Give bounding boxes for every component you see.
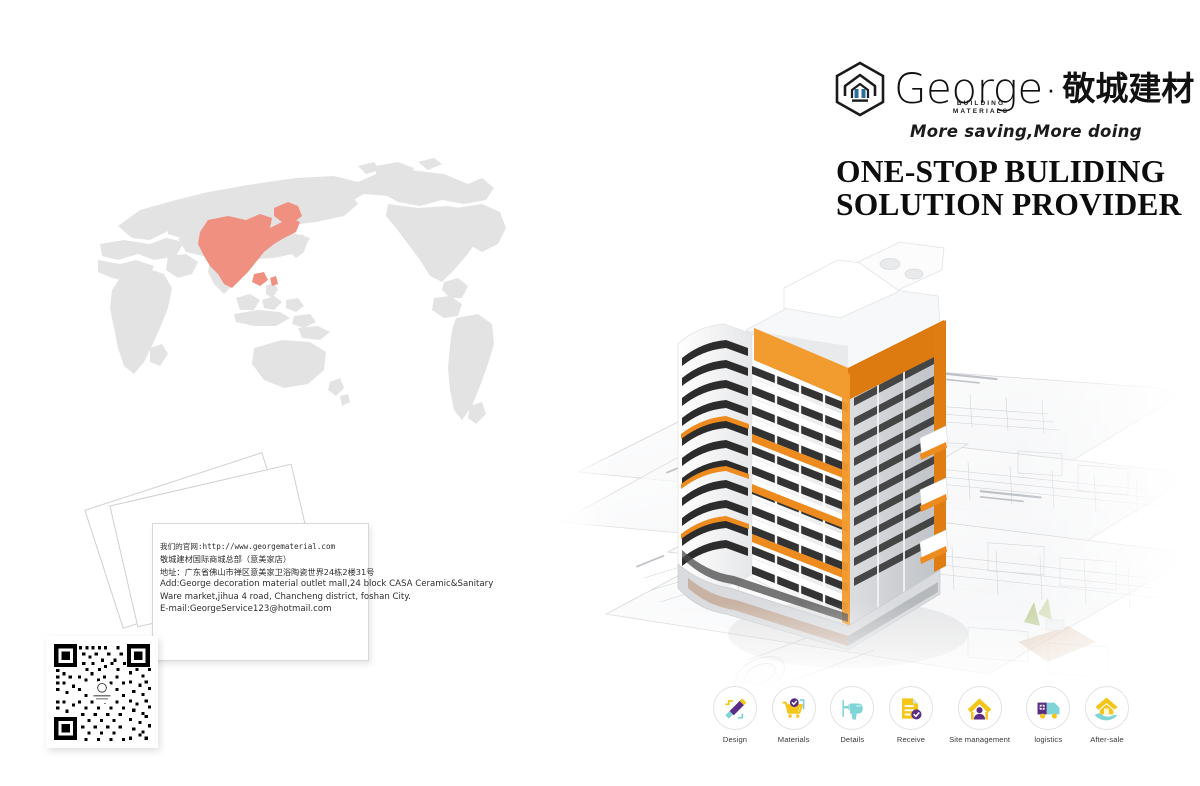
house-hand-icon — [1085, 686, 1129, 730]
service-label: logistics — [1034, 735, 1062, 744]
service-label: Materials — [778, 735, 810, 744]
service-icons-row: Design Materials — [706, 686, 1136, 758]
service-item-after-sale[interactable]: After-sale — [1078, 686, 1136, 744]
contact-card-text: 我们的官网:http://www.georgematerial.com 敬城建材… — [160, 541, 490, 616]
headline-line-2: SOLUTION PROVIDER — [836, 188, 1172, 221]
service-label: Design — [723, 735, 747, 744]
service-label: Site management — [949, 735, 1010, 744]
logo-wordmark: George BUILDING MATERIALS — [894, 66, 1043, 112]
pencil-ruler-icon — [713, 686, 757, 730]
hexagon-house-logo-icon — [832, 60, 888, 118]
page-title: ONE-STOP BULIDING SOLUTION PROVIDER — [836, 155, 1172, 221]
logo-separator: · — [1047, 66, 1056, 112]
logo-subtitle: BUILDING MATERIALS — [938, 100, 1024, 116]
service-item-receive[interactable]: Receive — [882, 686, 940, 744]
service-label: After-sale — [1090, 735, 1124, 744]
contact-line-address-en-1: Add:George decoration material outlet ma… — [160, 578, 490, 591]
building-rendering — [548, 222, 1200, 702]
house-person-icon — [958, 686, 1002, 730]
service-item-design[interactable]: Design — [706, 686, 764, 744]
service-item-logistics[interactable]: logistics — [1019, 686, 1077, 744]
brand-tagline: More saving,More doing — [910, 122, 1172, 141]
service-label: Receive — [897, 735, 925, 744]
service-item-details[interactable]: Details — [823, 686, 881, 744]
contact-line-email: E-mail:GeorgeService123@hotmail.com — [160, 603, 490, 616]
contact-line-company: 敬城建材国际商城总部（意美家店） — [160, 553, 490, 565]
world-map — [58, 148, 528, 438]
brand-block: George BUILDING MATERIALS · 敬城建材 More sa… — [832, 60, 1172, 221]
qr-code[interactable] — [46, 636, 158, 748]
logo-subtitle-line2: MATERIALS — [953, 108, 1009, 115]
service-item-site-management[interactable]: Site management — [941, 686, 1019, 744]
document-check-icon — [889, 686, 933, 730]
headline-line-1: ONE-STOP BULIDING — [836, 155, 1172, 188]
logo-name-cn: 敬城建材 — [1062, 66, 1194, 112]
contact-line-address-en-2: Ware market,jihua 4 road, Chancheng dist… — [160, 591, 490, 604]
service-label: Details — [840, 735, 864, 744]
service-item-materials[interactable]: Materials — [765, 686, 823, 744]
logo-row: George BUILDING MATERIALS · 敬城建材 — [832, 60, 1172, 118]
contact-card-stack: 我们的官网:http://www.georgematerial.com 敬城建材… — [95, 455, 515, 755]
drill-icon — [830, 686, 874, 730]
logo-subtitle-line1: BUILDING — [957, 100, 1005, 107]
delivery-truck-icon — [1026, 686, 1070, 730]
brochure-cover-page: George BUILDING MATERIALS · 敬城建材 More sa… — [0, 0, 1200, 786]
shopping-cart-check-icon — [772, 686, 816, 730]
contact-line-address-cn: 地址：广东省佛山市禅区意美家卫浴陶瓷世界24栋2楼31号 — [160, 566, 490, 578]
contact-line-website: 我们的官网:http://www.georgematerial.com — [160, 541, 490, 553]
